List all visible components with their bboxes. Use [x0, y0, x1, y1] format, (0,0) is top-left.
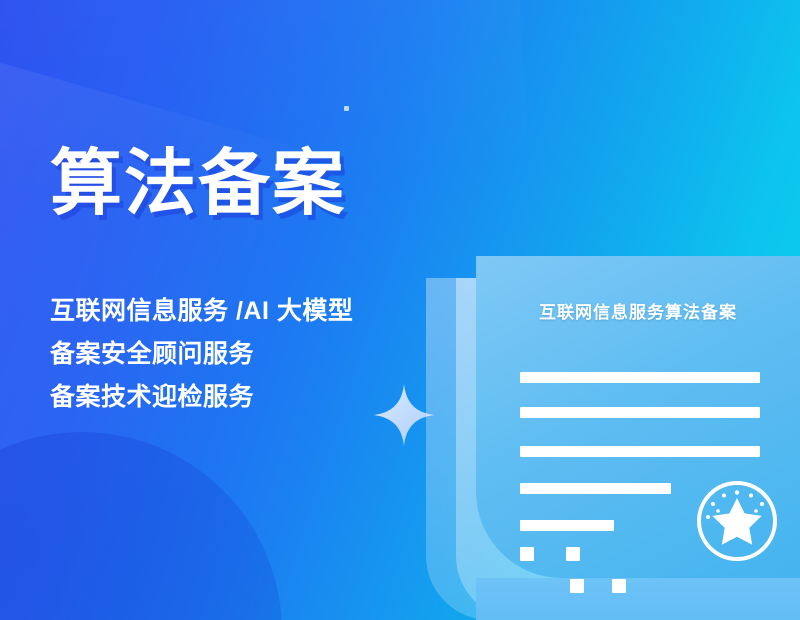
- content-bar: [520, 446, 760, 457]
- content-square-row: [520, 579, 760, 593]
- content-square: [520, 547, 534, 561]
- content-square: [566, 547, 580, 561]
- background-circle-dark: [0, 432, 282, 620]
- star-seal-icon: [694, 478, 780, 564]
- service-list-item-2: 备案安全顾问服务: [50, 341, 353, 368]
- content-square: [612, 579, 626, 593]
- certificate-card-title: 互联网信息服务算法备案: [476, 298, 800, 323]
- page-title: 算法备案: [50, 148, 346, 220]
- service-list-item-1: 互联网信息服务 /AI 大模型: [50, 298, 353, 325]
- content-bar: [520, 483, 671, 494]
- content-square: [570, 579, 584, 593]
- content-bar: [520, 372, 760, 383]
- content-bar: [520, 407, 760, 418]
- certificate-card-stack: 互联网信息服务算法备案: [420, 256, 800, 620]
- service-list: 互联网信息服务 /AI 大模型 备案安全顾问服务 备案技术迎检服务: [50, 298, 353, 411]
- algorithm-filing-banner: 算法备案 互联网信息服务 /AI 大模型 备案安全顾问服务 备案技术迎检服务 互…: [0, 0, 800, 620]
- service-list-item-3: 备案技术迎检服务: [50, 384, 353, 411]
- certificate-card-front: 互联网信息服务算法备案: [476, 256, 800, 578]
- background-accent-dot: [344, 106, 349, 111]
- content-bar: [520, 520, 614, 531]
